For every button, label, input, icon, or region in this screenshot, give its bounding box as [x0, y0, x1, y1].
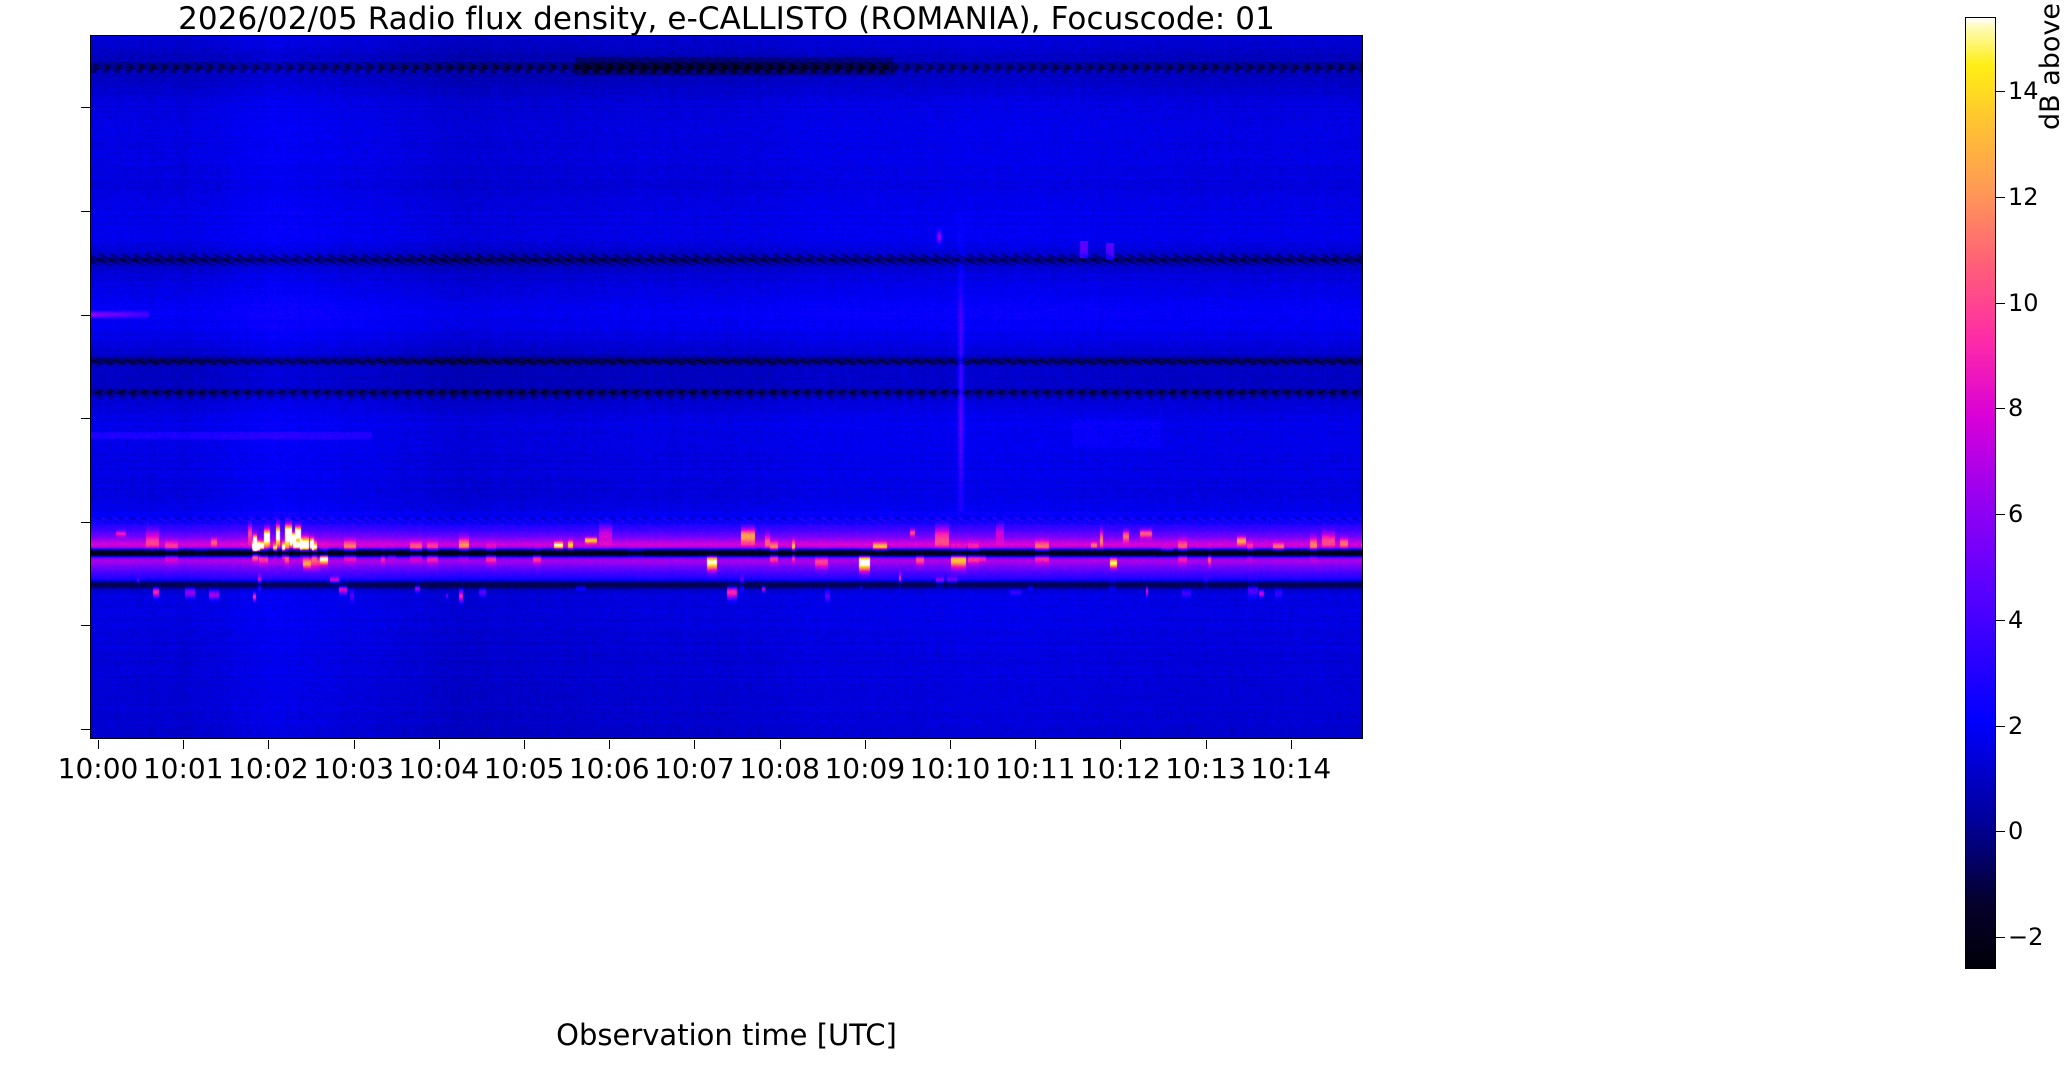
spectrogram-plot-area: [90, 35, 1363, 739]
colorbar-tick-label: 10: [2008, 289, 2039, 317]
x-tick-label: 10:04: [398, 752, 479, 785]
x-tick-label: 10:03: [313, 752, 394, 785]
colorbar-tick-mark: [1996, 408, 2005, 409]
colorbar-title: dB above background: [2035, 0, 2066, 130]
x-tick-label: 10:05: [484, 752, 565, 785]
x-tick-mark: [1206, 740, 1207, 749]
plot-frame: [90, 35, 1363, 739]
colorbar-tick-mark: [1996, 726, 2005, 727]
colorbar-tick-label: −2: [2008, 923, 2043, 951]
x-tick-label: 10:10: [910, 752, 991, 785]
x-tick-label: 10:08: [739, 752, 820, 785]
x-tick-mark: [439, 740, 440, 749]
x-tick-mark: [1035, 740, 1036, 749]
colorbar-tick-label: 8: [2008, 394, 2023, 422]
x-tick-mark: [354, 740, 355, 749]
x-tick-label: 10:00: [58, 752, 139, 785]
x-tick-mark: [609, 740, 610, 749]
colorbar-tick-label: 2: [2008, 712, 2023, 740]
colorbar-tick-label: 6: [2008, 500, 2023, 528]
x-tick-label: 10:09: [824, 752, 905, 785]
x-tick-mark: [183, 740, 184, 749]
x-tick-label: 10:01: [143, 752, 224, 785]
x-tick-mark: [780, 740, 781, 749]
colorbar-tick-mark: [1996, 937, 2005, 938]
y-tick-mark: [81, 729, 90, 730]
y-tick-mark: [81, 625, 90, 626]
page-title: 2026/02/05 Radio flux density, e-CALLIST…: [0, 2, 1453, 36]
x-tick-mark: [865, 740, 866, 749]
y-tick-mark: [81, 418, 90, 419]
y-tick-mark: [81, 522, 90, 523]
x-tick-label: 10:06: [569, 752, 650, 785]
colorbar-tick-label: 4: [2008, 606, 2023, 634]
colorbar-tick-mark: [1996, 831, 2005, 832]
colorbar-tick-mark: [1996, 620, 2005, 621]
x-tick-label: 10:07: [654, 752, 735, 785]
x-tick-label: 10:02: [228, 752, 309, 785]
x-tick-label: 10:13: [1165, 752, 1246, 785]
colorbar-tick-label: 0: [2008, 817, 2023, 845]
x-tick-mark: [1291, 740, 1292, 749]
x-axis-title: Observation time [UTC]: [0, 1018, 1453, 1052]
colorbar-tick-mark: [1996, 514, 2005, 515]
x-tick-mark: [98, 740, 99, 749]
x-tick-label: 10:14: [1250, 752, 1331, 785]
y-tick-mark: [81, 107, 90, 108]
x-tick-mark: [1120, 740, 1121, 749]
x-tick-mark: [694, 740, 695, 749]
x-tick-label: 10:11: [995, 752, 1076, 785]
colorbar-tick-mark: [1996, 91, 2005, 92]
colorbar-frame: [1965, 17, 1996, 969]
colorbar-gradient: [1966, 18, 1995, 968]
y-tick-mark: [81, 315, 90, 316]
colorbar: [1965, 17, 1996, 969]
x-tick-mark: [950, 740, 951, 749]
colorbar-tick-mark: [1996, 197, 2005, 198]
colorbar-tick-mark: [1996, 303, 2005, 304]
colorbar-tick-label: 12: [2008, 183, 2039, 211]
x-tick-mark: [268, 740, 269, 749]
y-tick-mark: [81, 211, 90, 212]
colorbar-tick-label: 14: [2008, 77, 2039, 105]
spectrogram-image: [91, 36, 1363, 739]
x-tick-label: 10:12: [1080, 752, 1161, 785]
x-tick-mark: [524, 740, 525, 749]
